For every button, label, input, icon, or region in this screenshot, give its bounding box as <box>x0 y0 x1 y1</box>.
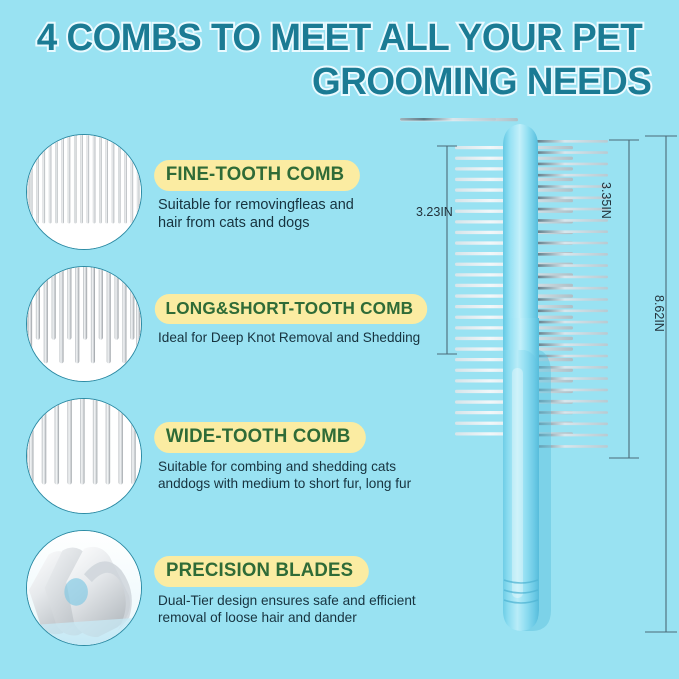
feature-title-badge: WIDE-TOOTH COMB <box>154 422 366 453</box>
feature-title-badge: LONG&SHORT-TOOTH COMB <box>155 294 427 324</box>
feature-title-badge: PRECISION BLADES <box>154 556 369 587</box>
dimension-label-right-teeth: 3.35IN <box>599 182 613 219</box>
page-title: 4 COMBS TO MEET ALL YOUR PET GROOMING NE… <box>0 16 679 104</box>
fine-tooth-comb-icon <box>26 134 142 250</box>
long-short-tooth-comb-icon <box>26 266 142 382</box>
title-line-2: GROOMING NEEDS <box>10 60 669 104</box>
wide-tooth-comb-icon <box>26 398 142 514</box>
precision-blades-icon <box>26 530 142 646</box>
dimension-label-left-teeth: 3.23IN <box>416 205 453 219</box>
product-infographic: 4 COMBS TO MEET ALL YOUR PET GROOMING NE… <box>0 0 679 679</box>
feature-title-badge: FINE-TOOTH COMB <box>154 160 360 191</box>
title-line-1: 4 COMBS TO MEET ALL YOUR PET <box>10 16 669 60</box>
dimension-label-total-length: 8.62IN <box>652 295 666 332</box>
product-image <box>400 118 679 679</box>
